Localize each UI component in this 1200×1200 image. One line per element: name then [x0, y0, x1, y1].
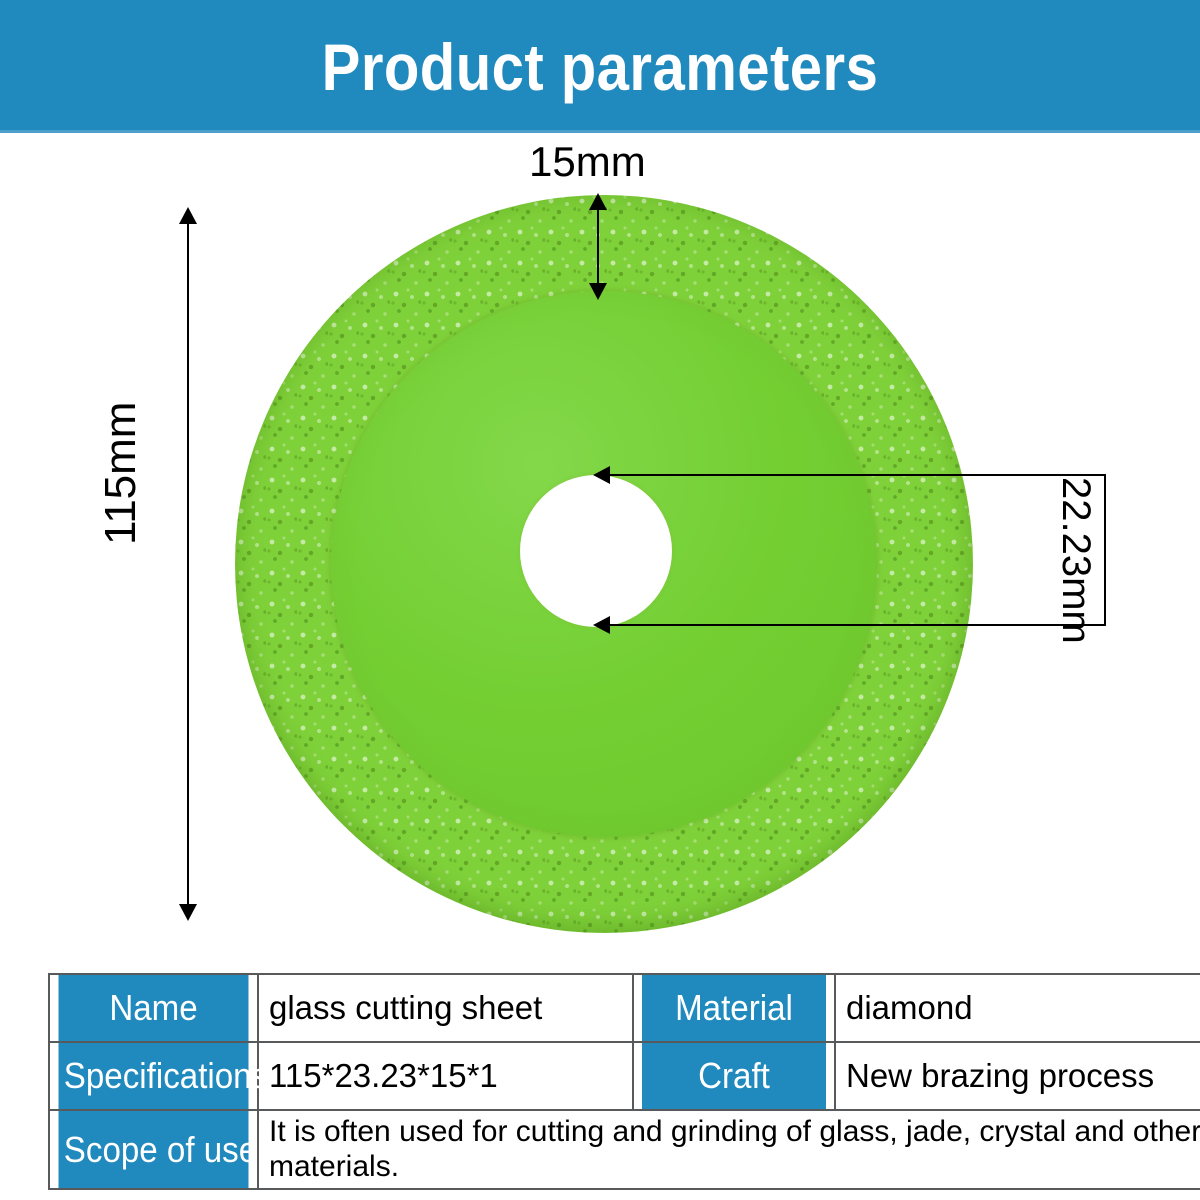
arrow-left-icon	[593, 466, 610, 484]
disc-center-bore	[520, 475, 672, 627]
arrow-down-icon	[589, 283, 607, 300]
arrow-up-icon	[589, 193, 607, 210]
table-row: Name glass cutting sheet Material diamon…	[49, 974, 1200, 1042]
spec-value-material: diamond	[835, 974, 1200, 1042]
arrow-down-icon	[179, 904, 197, 921]
product-parameters-page: Product parameters 15mm 115mm 22.23mm	[0, 0, 1200, 1200]
header-banner: Product parameters	[0, 0, 1200, 133]
table-row: Specifications 115*23.23*15*1 Craft New …	[49, 1042, 1200, 1110]
spec-value-specifications: 115*23.23*15*1	[258, 1042, 633, 1110]
spec-value-scope-of-use: It is often used for cutting and grindin…	[258, 1110, 1200, 1189]
arrow-left-icon	[593, 616, 610, 634]
page-title: Product parameters	[72, 0, 1128, 133]
spec-value-craft: New brazing process	[835, 1042, 1200, 1110]
dimension-label-bore-diameter: 22.23mm	[1053, 477, 1098, 644]
spec-label-name: Name	[57, 974, 249, 1042]
dimension-leader-bore-top	[598, 474, 1106, 476]
spec-label-scope-of-use: Scope of use	[57, 1110, 249, 1189]
product-illustration: 15mm 115mm 22.23mm	[0, 133, 1200, 963]
dimension-label-outer-diameter: 115mm	[96, 402, 146, 545]
cutting-disc-graphic	[235, 195, 973, 933]
spec-value-name: glass cutting sheet	[258, 974, 633, 1042]
dimension-label-rim-width: 15mm	[529, 138, 646, 186]
spec-label-craft: Craft	[641, 1042, 827, 1110]
table-row: Scope of use It is often used for cuttin…	[49, 1110, 1200, 1189]
arrow-up-icon	[179, 207, 197, 224]
dimension-line-outer-diameter	[187, 210, 189, 918]
dimension-leader-bore-bottom	[598, 624, 1106, 626]
dimension-line-bore-diameter	[1104, 474, 1106, 626]
spec-label-specifications: Specifications	[57, 1042, 249, 1110]
specification-table: Name glass cutting sheet Material diamon…	[48, 973, 1200, 1190]
spec-label-material: Material	[641, 974, 827, 1042]
